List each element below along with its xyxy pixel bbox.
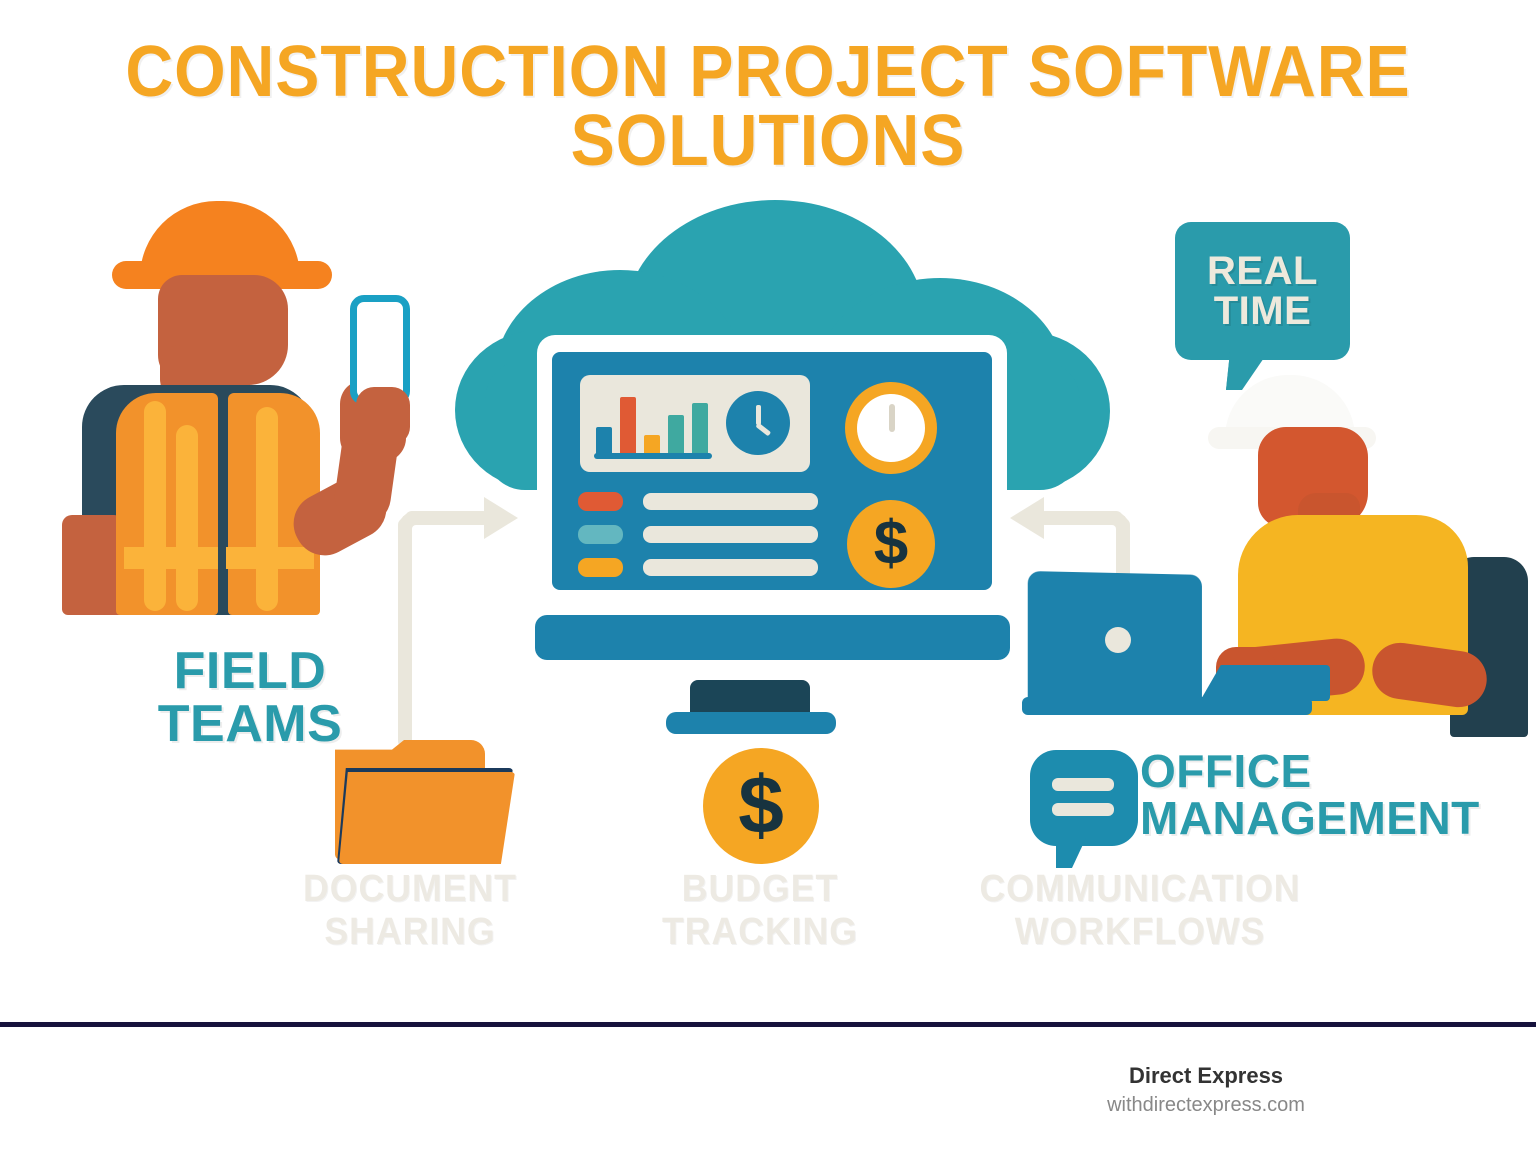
laptop-logo: [1105, 627, 1131, 653]
row-line: [643, 526, 818, 543]
dashboard-chart-panel: [580, 375, 810, 472]
footer-divider: [0, 1022, 1536, 1027]
dollar-coin-icon: $: [703, 748, 819, 864]
dashboard-list: [578, 492, 818, 578]
feature-label-document-sharing: DOCUMENT SHARING: [255, 868, 565, 953]
real-time-badge: REAL TIME: [1175, 222, 1350, 360]
clock-icon: [726, 391, 790, 455]
row-tag: [578, 525, 623, 544]
real-time-line-2: TIME: [1214, 291, 1312, 331]
field-teams-label: FIELD TEAMS: [100, 645, 400, 751]
chart-bar: [620, 397, 636, 455]
vest-stripe-vertical-center: [176, 425, 198, 611]
list-item: [578, 558, 818, 578]
chart-bar: [596, 427, 612, 455]
illustration-stage: $: [0, 0, 1536, 1020]
brand-url: withdirectexpress.com: [1006, 1094, 1406, 1117]
worker-sleeve-cuff: [62, 515, 124, 615]
feature-line-1: DOCUMENT: [255, 868, 565, 911]
monitor-foot: [666, 712, 836, 734]
field-worker-illustration: [40, 195, 440, 625]
chart-bar: [644, 435, 660, 455]
folder-icon: [335, 740, 515, 865]
monitor-base-bar: [535, 615, 1010, 660]
feature-line-2: SHARING: [255, 911, 565, 954]
vest-opening: [218, 393, 226, 615]
vest-stripe-vertical-right: [256, 407, 278, 611]
orange-clock-icon: [845, 382, 937, 474]
safety-vest-left: [116, 393, 218, 615]
worker-fingers: [356, 387, 410, 445]
infographic-page: CONSTRUCTION PROJECT SOFTWARE SOLUTIONS: [0, 0, 1536, 1154]
laptop-keyboard-edge: [1200, 665, 1330, 701]
brand-name: Direct Express: [1006, 1063, 1406, 1089]
row-tag: [578, 492, 623, 511]
real-time-line-1: REAL: [1207, 251, 1318, 291]
list-item: [578, 492, 818, 512]
chart-axis: [594, 453, 712, 459]
bar-chart: [594, 387, 714, 459]
feature-line-2: WORKFLOWS: [943, 911, 1338, 954]
list-item: [578, 525, 818, 545]
row-tag: [578, 558, 623, 577]
chat-bubble-icon: [1030, 750, 1138, 846]
feature-line-2: TRACKING: [610, 911, 911, 954]
office-worker-illustration: [1020, 375, 1520, 735]
vest-stripe-vertical-left: [144, 401, 166, 611]
office-line-2: MANAGEMENT: [1140, 795, 1536, 842]
feature-line-1: BUDGET: [610, 868, 911, 911]
office-line-1: OFFICE: [1140, 748, 1536, 795]
row-line: [643, 559, 818, 576]
office-management-label: OFFICE MANAGEMENT: [1140, 748, 1536, 842]
chart-bar: [692, 403, 708, 455]
feature-line-1: COMMUNICATION: [943, 868, 1338, 911]
field-teams-line-1: FIELD: [100, 645, 400, 698]
dollar-coin-icon: $: [847, 500, 935, 588]
row-line: [643, 493, 818, 510]
feature-label-communication-workflows: COMMUNICATION WORKFLOWS: [943, 868, 1338, 953]
feature-label-budget-tracking: BUDGET TRACKING: [610, 868, 911, 953]
chart-bar: [668, 415, 684, 455]
